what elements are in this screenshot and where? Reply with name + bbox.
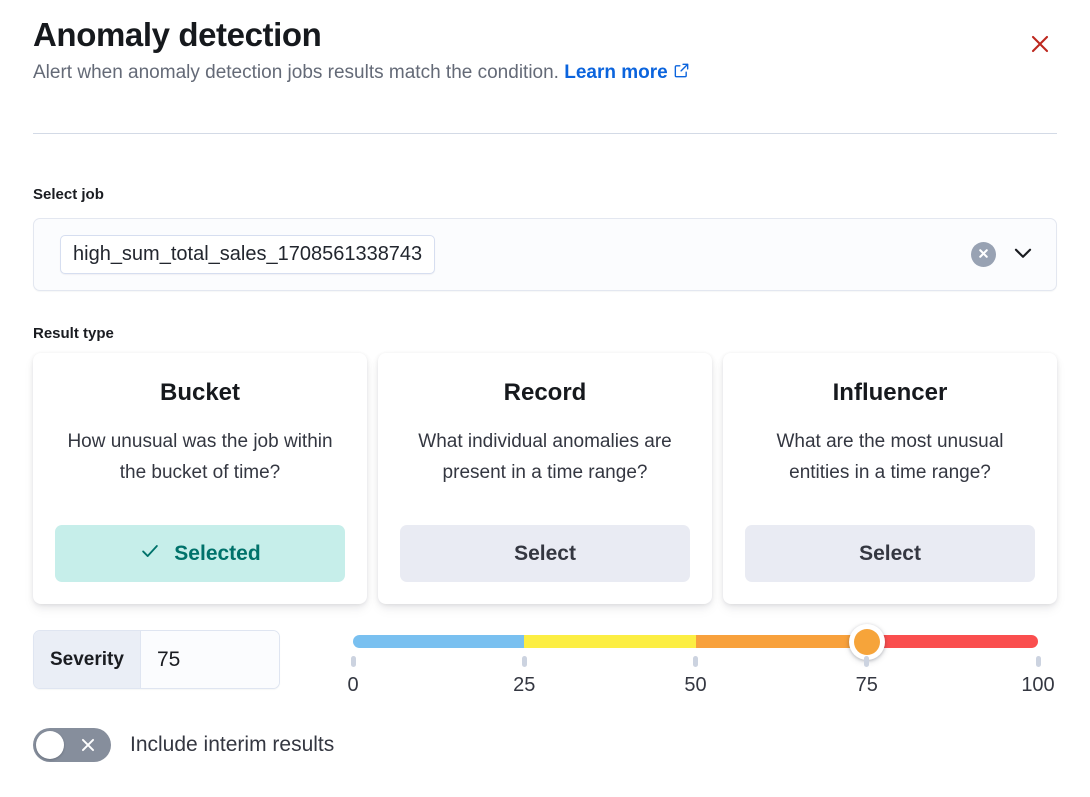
external-link-icon xyxy=(673,61,690,87)
tick-label: 25 xyxy=(489,674,559,696)
severity-slider-ticks: 0255075100 xyxy=(353,656,1038,700)
result-type-label: Result type xyxy=(33,325,114,342)
interim-results-row: Include interim results xyxy=(33,728,334,762)
severity-tick-100: 100 xyxy=(1003,656,1073,696)
card-title-record: Record xyxy=(504,379,587,407)
x-icon xyxy=(79,736,97,754)
page-subtitle: Alert when anomaly detection jobs result… xyxy=(33,60,1057,87)
select-influencer-button[interactable]: Select xyxy=(745,525,1035,582)
severity-slider-track[interactable] xyxy=(353,635,1038,648)
tick-mark xyxy=(522,656,527,667)
include-interim-results-toggle[interactable] xyxy=(33,728,111,762)
page-title: Anomaly detection xyxy=(33,16,1057,54)
severity-tick-0: 0 xyxy=(318,656,388,696)
subtitle-text: Alert when anomaly detection jobs result… xyxy=(33,62,559,83)
expand-combobox-button[interactable] xyxy=(1010,242,1036,268)
combobox-actions xyxy=(971,242,1042,268)
card-description-record: What individual anomalies are present in… xyxy=(400,426,690,488)
tick-mark xyxy=(351,656,356,667)
severity-row: Severity 0255075100 xyxy=(33,630,1057,692)
severity-tick-75: 75 xyxy=(832,656,902,696)
severity-field[interactable]: Severity xyxy=(33,630,280,689)
learn-more-link[interactable]: Learn more xyxy=(564,62,689,83)
result-type-card-record[interactable]: Record What individual anomalies are pre… xyxy=(378,353,712,604)
select-bucket-button-label: Selected xyxy=(174,542,260,566)
result-type-cards: Bucket How unusual was the job within th… xyxy=(33,353,1057,604)
anomaly-detection-panel: Anomaly detection Alert when anomaly det… xyxy=(0,0,1090,797)
toggle-knob xyxy=(36,731,64,759)
tick-label: 50 xyxy=(661,674,731,696)
select-record-button[interactable]: Select xyxy=(400,525,690,582)
tick-mark xyxy=(1036,656,1041,667)
severity-tick-25: 25 xyxy=(489,656,559,696)
result-type-card-influencer[interactable]: Influencer What are the most unusual ent… xyxy=(723,353,1057,604)
select-influencer-button-label: Select xyxy=(859,542,921,566)
severity-input[interactable] xyxy=(141,631,280,688)
result-type-card-bucket[interactable]: Bucket How unusual was the job within th… xyxy=(33,353,367,604)
header-divider xyxy=(33,133,1057,134)
severity-label: Severity xyxy=(34,631,141,688)
card-title-influencer: Influencer xyxy=(833,379,948,407)
select-job-combobox[interactable]: high_sum_total_sales_1708561338743 xyxy=(33,218,1057,291)
close-x-icon xyxy=(1028,32,1052,59)
chevron-down-icon xyxy=(1010,240,1036,269)
clear-selection-button[interactable] xyxy=(971,242,996,267)
learn-more-label: Learn more xyxy=(564,62,667,83)
card-description-bucket: How unusual was the job within the bucke… xyxy=(55,426,345,488)
severity-slider-thumb[interactable] xyxy=(849,624,885,660)
severity-segment-minor xyxy=(524,635,695,648)
panel-header: Anomaly detection Alert when anomaly det… xyxy=(33,16,1057,87)
tick-label: 75 xyxy=(832,674,902,696)
select-job-label: Select job xyxy=(33,186,104,203)
tick-mark xyxy=(693,656,698,667)
tick-label: 100 xyxy=(1003,674,1073,696)
severity-segment-major xyxy=(696,635,867,648)
card-title-bucket: Bucket xyxy=(160,379,240,407)
clear-circle-x-icon xyxy=(977,247,990,263)
select-bucket-button[interactable]: Selected xyxy=(55,525,345,582)
card-description-influencer: What are the most unusual entities in a … xyxy=(745,426,1035,488)
severity-segment-warning xyxy=(353,635,524,648)
select-record-button-label: Select xyxy=(514,542,576,566)
severity-tick-50: 50 xyxy=(661,656,731,696)
tick-label: 0 xyxy=(318,674,388,696)
severity-slider[interactable]: 0255075100 xyxy=(318,630,1057,704)
selected-job-pill[interactable]: high_sum_total_sales_1708561338743 xyxy=(60,235,435,274)
severity-segment-critical xyxy=(867,635,1038,648)
include-interim-results-label: Include interim results xyxy=(130,733,334,757)
tick-mark xyxy=(864,656,869,667)
close-button[interactable] xyxy=(1023,28,1057,62)
check-icon xyxy=(139,540,161,568)
